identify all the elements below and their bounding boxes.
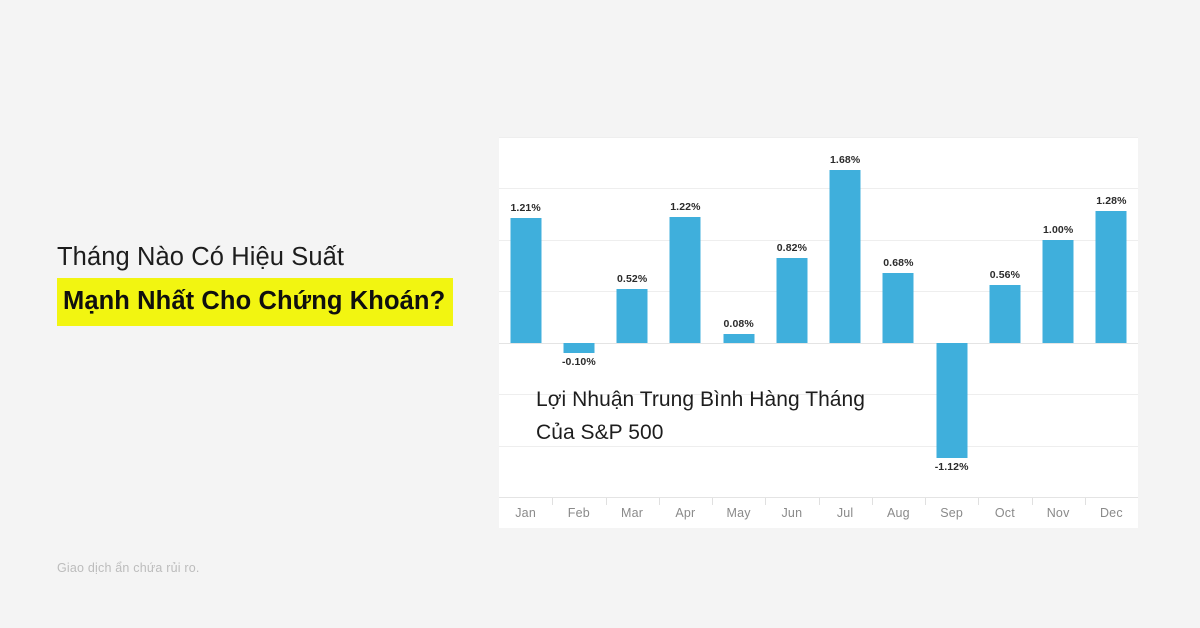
- chart-x-tick-dec: Dec: [1085, 498, 1138, 528]
- chart-bar-slot: 0.68%: [872, 137, 925, 497]
- chart-bar-slot: 1.21%: [499, 137, 552, 497]
- chart-bar[interactable]: [1096, 211, 1127, 343]
- chart-bars: 1.21%-0.10%0.52%1.22%0.08%0.82%1.68%0.68…: [499, 137, 1138, 497]
- chart-bar-value-label: 1.68%: [830, 154, 860, 166]
- chart-x-tick-nov: Nov: [1032, 498, 1085, 528]
- chart-bar-slot: 1.22%: [659, 137, 712, 497]
- headline-line-1: Tháng Nào Có Hiệu Suất: [57, 238, 487, 276]
- chart-bar-value-label: 1.28%: [1096, 195, 1126, 207]
- chart-bar[interactable]: [563, 343, 594, 353]
- chart-bar-value-label: 0.56%: [990, 269, 1020, 281]
- headline-line-2-highlighted: Mạnh Nhất Cho Chứng Khoán?: [57, 278, 453, 326]
- chart-x-tick-may: May: [712, 498, 765, 528]
- chart-bar-slot: 0.56%: [978, 137, 1031, 497]
- disclaimer-text: Giao dịch ẩn chứa rủi ro.: [57, 561, 200, 575]
- chart-x-tick-jun: Jun: [765, 498, 818, 528]
- chart-bar[interactable]: [723, 334, 754, 342]
- chart-bar[interactable]: [883, 273, 914, 343]
- chart-bar-value-label: -1.12%: [935, 461, 969, 473]
- chart-bar-slot: 1.00%: [1032, 137, 1085, 497]
- chart-bar[interactable]: [830, 170, 861, 343]
- chart-bar[interactable]: [617, 289, 648, 342]
- chart-panel: 1.21%-0.10%0.52%1.22%0.08%0.82%1.68%0.68…: [499, 137, 1138, 528]
- chart-bar-slot: 1.68%: [819, 137, 872, 497]
- chart-bar[interactable]: [1043, 240, 1074, 343]
- chart-x-axis: JanFebMarAprMayJunJulAugSepOctNovDec: [499, 497, 1138, 528]
- chart-x-tick-jul: Jul: [819, 498, 872, 528]
- chart-x-tick-oct: Oct: [978, 498, 1031, 528]
- chart-x-tick-apr: Apr: [659, 498, 712, 528]
- chart-bar-slot: -1.12%: [925, 137, 978, 497]
- chart-bar-value-label: 1.00%: [1043, 224, 1073, 236]
- chart-bar-slot: 0.82%: [765, 137, 818, 497]
- chart-plot-area: 1.21%-0.10%0.52%1.22%0.08%0.82%1.68%0.68…: [499, 137, 1138, 497]
- chart-bar-slot: 1.28%: [1085, 137, 1138, 497]
- chart-bar-slot: -0.10%: [552, 137, 605, 497]
- chart-bar-slot: 0.08%: [712, 137, 765, 497]
- chart-bar-slot: 0.52%: [606, 137, 659, 497]
- chart-bar-value-label: -0.10%: [562, 356, 596, 368]
- chart-x-tick-aug: Aug: [872, 498, 925, 528]
- chart-bar[interactable]: [989, 285, 1020, 343]
- chart-bar[interactable]: [510, 218, 541, 342]
- chart-x-tick-feb: Feb: [552, 498, 605, 528]
- chart-bar-value-label: 0.08%: [723, 318, 753, 330]
- headline-line-2-wrapper: Mạnh Nhất Cho Chứng Khoán?: [57, 278, 487, 326]
- chart-x-tick-mar: Mar: [606, 498, 659, 528]
- chart-x-tick-jan: Jan: [499, 498, 552, 528]
- chart-x-tick-sep: Sep: [925, 498, 978, 528]
- chart-bar[interactable]: [936, 343, 967, 458]
- headline-block: Tháng Nào Có Hiệu Suất Mạnh Nhất Cho Chứ…: [57, 238, 487, 326]
- chart-bar[interactable]: [776, 258, 807, 342]
- chart-bar-value-label: 1.22%: [670, 201, 700, 213]
- chart-bar-value-label: 0.82%: [777, 242, 807, 254]
- chart-bar-value-label: 0.68%: [883, 257, 913, 269]
- chart-bar[interactable]: [670, 217, 701, 342]
- chart-bar-value-label: 0.52%: [617, 273, 647, 285]
- chart-bar-value-label: 1.21%: [510, 202, 540, 214]
